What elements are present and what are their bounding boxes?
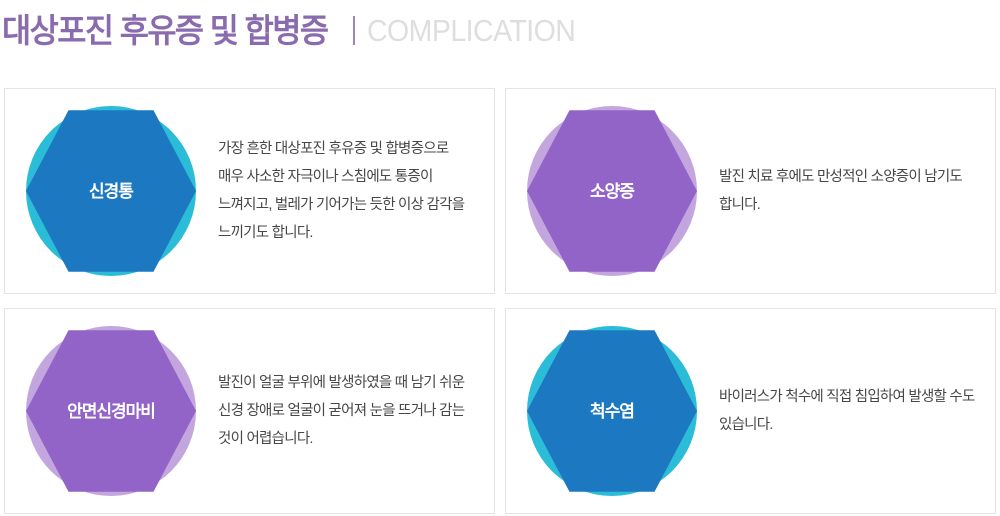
card-body: 바이러스가 척수에 직접 침입하여 발생할 수도 있습니다. bbox=[697, 383, 995, 439]
complication-description: 가장 흔한 대상포진 후유증 및 합병증으로 매우 사소한 자극이나 스침에도 … bbox=[218, 135, 476, 247]
hexagon-in-circle-icon: 안면신경마비 bbox=[26, 326, 196, 496]
card-body: 발진 치료 후에도 만성적인 소양증이 남기도 합니다. bbox=[697, 163, 995, 219]
complication-label: 신경통 bbox=[89, 183, 133, 200]
card-body: 발진이 얼굴 부위에 발생하였을 때 남기 쉬운 신경 장애로 얼굴이 굳어져 … bbox=[196, 369, 494, 453]
complication-description: 발진 치료 후에도 만성적인 소양증이 남기도 합니다. bbox=[719, 163, 977, 219]
page-title-english: COMPLICATION bbox=[367, 15, 575, 46]
complication-card-grid: 신경통 가장 흔한 대상포진 후유증 및 합병증으로 매우 사소한 자극이나 스… bbox=[4, 88, 996, 514]
hexagon-in-circle-icon: 척수염 bbox=[527, 326, 697, 496]
hexagon-in-circle-icon: 신경통 bbox=[26, 106, 196, 276]
hexagon-in-circle-icon: 소양증 bbox=[527, 106, 697, 276]
complication-label: 척수염 bbox=[590, 403, 634, 420]
page-header: 대상포진 후유증 및 합병증 COMPLICATION bbox=[0, 0, 1000, 60]
page-title-korean: 대상포진 후유증 및 합병증 bbox=[2, 14, 328, 47]
complication-label: 안면신경마비 bbox=[67, 403, 155, 420]
complication-card-myelitis: 척수염 바이러스가 척수에 직접 침입하여 발생할 수도 있습니다. bbox=[505, 308, 996, 514]
card-body: 가장 흔한 대상포진 후유증 및 합병증으로 매우 사소한 자극이나 스침에도 … bbox=[196, 135, 494, 247]
complication-card-facial-nerve-palsy: 안면신경마비 발진이 얼굴 부위에 발생하였을 때 남기 쉬운 신경 장애로 얼… bbox=[4, 308, 495, 514]
complication-page: 대상포진 후유증 및 합병증 COMPLICATION 신경통 가장 흔한 대상… bbox=[0, 0, 1000, 516]
complication-description: 바이러스가 척수에 직접 침입하여 발생할 수도 있습니다. bbox=[719, 383, 977, 439]
complication-label: 소양증 bbox=[590, 183, 634, 200]
title-divider bbox=[353, 16, 355, 45]
complication-card-pruritus: 소양증 발진 치료 후에도 만성적인 소양증이 남기도 합니다. bbox=[505, 88, 996, 294]
complication-description: 발진이 얼굴 부위에 발생하였을 때 남기 쉬운 신경 장애로 얼굴이 굳어져 … bbox=[218, 369, 476, 453]
complication-card-neuralgia: 신경통 가장 흔한 대상포진 후유증 및 합병증으로 매우 사소한 자극이나 스… bbox=[4, 88, 495, 294]
